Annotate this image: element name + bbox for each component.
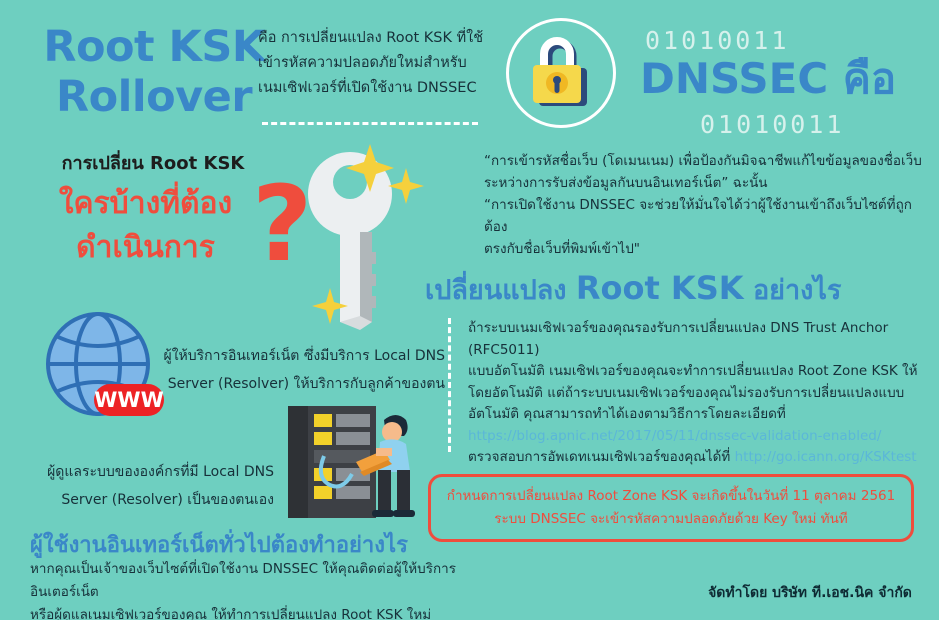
schedule-callout-box: กำหนดการเปลี่ยนแปลง Root Zone KSK จะเกิด… bbox=[428, 474, 914, 542]
enduser-heading: ผู้ใช้งานอินเทอร์เน็ตทั่วไปต้องทำอย่างไร bbox=[30, 527, 408, 562]
quote-line-3: “การเปิดใช้งาน DNSSEC จะช่วยให้มั่นใจได้… bbox=[484, 194, 932, 238]
binary-decoration-bottom: 01010011 bbox=[700, 110, 844, 139]
howto-line-4: อัตโนมัติ คุณสามารถทำได้เองตามวิธีการโดย… bbox=[468, 404, 934, 426]
quote-line-4: ตรงกับชื่อเว็บที่พิมพ์เข้าไป" bbox=[484, 238, 932, 260]
admin-line-2: Server (Resolver) เป็นของตนเอง bbox=[24, 486, 274, 514]
howto-heading-keyword: Root KSK bbox=[576, 269, 744, 307]
dnssec-quote: “การเข้ารหัสชื่อเว็บ (โดเมนเนม) เพื่อป้อ… bbox=[484, 150, 932, 260]
server-technician-illustration bbox=[280, 398, 420, 534]
www-badge-label: WWW bbox=[94, 388, 164, 412]
globe-illustration: WWW bbox=[46, 312, 166, 424]
howto-line-5: ตรวจสอบการอัพเดทเนมเซิฟเวอร์ของคุณได้ที่… bbox=[468, 447, 934, 469]
isp-description: ผู้ให้บริการอินเทอร์เน็ต ซึ่งมีบริการ Lo… bbox=[155, 342, 445, 398]
intro-paragraph: คือ การเปลี่ยนแปลง Root KSK ที่ใช้เข้ารห… bbox=[258, 26, 490, 101]
isp-line-2: Server (Resolver) ให้บริการกับลูกค้าของต… bbox=[155, 370, 445, 398]
howto-line-1: ถ้าระบบเนมเซิฟเวอร์ของคุณรองรับการเปลี่ย… bbox=[468, 318, 934, 361]
admin-description: ผู้ดูแลระบบขององค์กรที่มี Local DNS Serv… bbox=[24, 458, 274, 514]
apnic-blog-link[interactable]: https://blog.apnic.net/2017/05/11/dnssec… bbox=[468, 426, 934, 448]
enduser-line-1: หากคุณเป็นเจ้าของเว็บไซต์ที่เปิดใช้งาน D… bbox=[30, 558, 500, 604]
howto-line-3: โดยอัตโนมัติ แต่ถ้าระบบเนมเซิฟเวอร์ของคุ… bbox=[468, 383, 934, 405]
title-subtitle: การเปลี่ยน Root KSK bbox=[28, 148, 278, 177]
key-illustration bbox=[296, 140, 426, 330]
isp-line-1: ผู้ให้บริการอินเทอร์เน็ต ซึ่งมีบริการ Lo… bbox=[155, 342, 445, 370]
vertical-dashed-divider bbox=[448, 318, 451, 452]
admin-line-1: ผู้ดูแลระบบขององค์กรที่มี Local DNS bbox=[24, 458, 274, 486]
page-title: Root KSK Rollover bbox=[34, 22, 274, 122]
howto-body: ถ้าระบบเนมเซิฟเวอร์ของคุณรองรับการเปลี่ย… bbox=[468, 318, 934, 469]
howto-heading-post: อย่างไร bbox=[744, 275, 842, 306]
footer-credit: จัดทำโดย บริษัท ที.เอช.นิค จำกัด bbox=[700, 582, 920, 604]
callout-line-1: กำหนดการเปลี่ยนแปลง Root Zone KSK จะเกิด… bbox=[447, 485, 895, 508]
who-heading: ใครบ้างที่ต้อง ดำเนินการ bbox=[18, 182, 273, 270]
infographic-poster: Root KSK Rollover การเปลี่ยน Root KSK ใค… bbox=[0, 0, 939, 620]
callout-line-2: ระบบ DNSSEC จะเข้ารหัสความปลอดภัยด้วย Ke… bbox=[494, 508, 847, 531]
who-line-1: ใครบ้างที่ต้อง bbox=[18, 182, 273, 226]
howto-heading: เปลี่ยนแปลง Root KSK อย่างไร bbox=[425, 268, 841, 311]
icann-ksktest-link[interactable]: http://go.icann.org/KSKtest bbox=[735, 449, 917, 465]
binary-decoration-top: 01010011 bbox=[645, 26, 789, 55]
enduser-line-2: หรือผู้ดูแลเนมเซิฟเวอร์ของคุณ ให้ทำการเป… bbox=[30, 604, 500, 620]
intro-dashed-divider bbox=[262, 122, 478, 128]
dnssec-title: DNSSEC คือ bbox=[640, 55, 896, 103]
padlock-icon bbox=[527, 32, 593, 110]
quote-line-2: ระหว่างการรับส่งข้อมูลกันบนอินเทอร์เน็ต”… bbox=[484, 172, 932, 194]
howto-line-5-text: ตรวจสอบการอัพเดทเนมเซิฟเวอร์ของคุณได้ที่ bbox=[468, 449, 735, 465]
title-line-2: Rollover bbox=[34, 72, 274, 122]
title-line-1: Root KSK bbox=[34, 22, 274, 72]
quote-line-1: “การเข้ารหัสชื่อเว็บ (โดเมนเนม) เพื่อป้อ… bbox=[484, 150, 932, 172]
howto-heading-pre: เปลี่ยนแปลง bbox=[425, 275, 576, 306]
who-line-2: ดำเนินการ bbox=[18, 226, 273, 270]
howto-line-2: แบบอัตโนมัติ เนมเซิฟเวอร์ของคุณจะทำการเป… bbox=[468, 361, 934, 383]
enduser-body: หากคุณเป็นเจ้าของเว็บไซต์ที่เปิดใช้งาน D… bbox=[30, 558, 500, 620]
